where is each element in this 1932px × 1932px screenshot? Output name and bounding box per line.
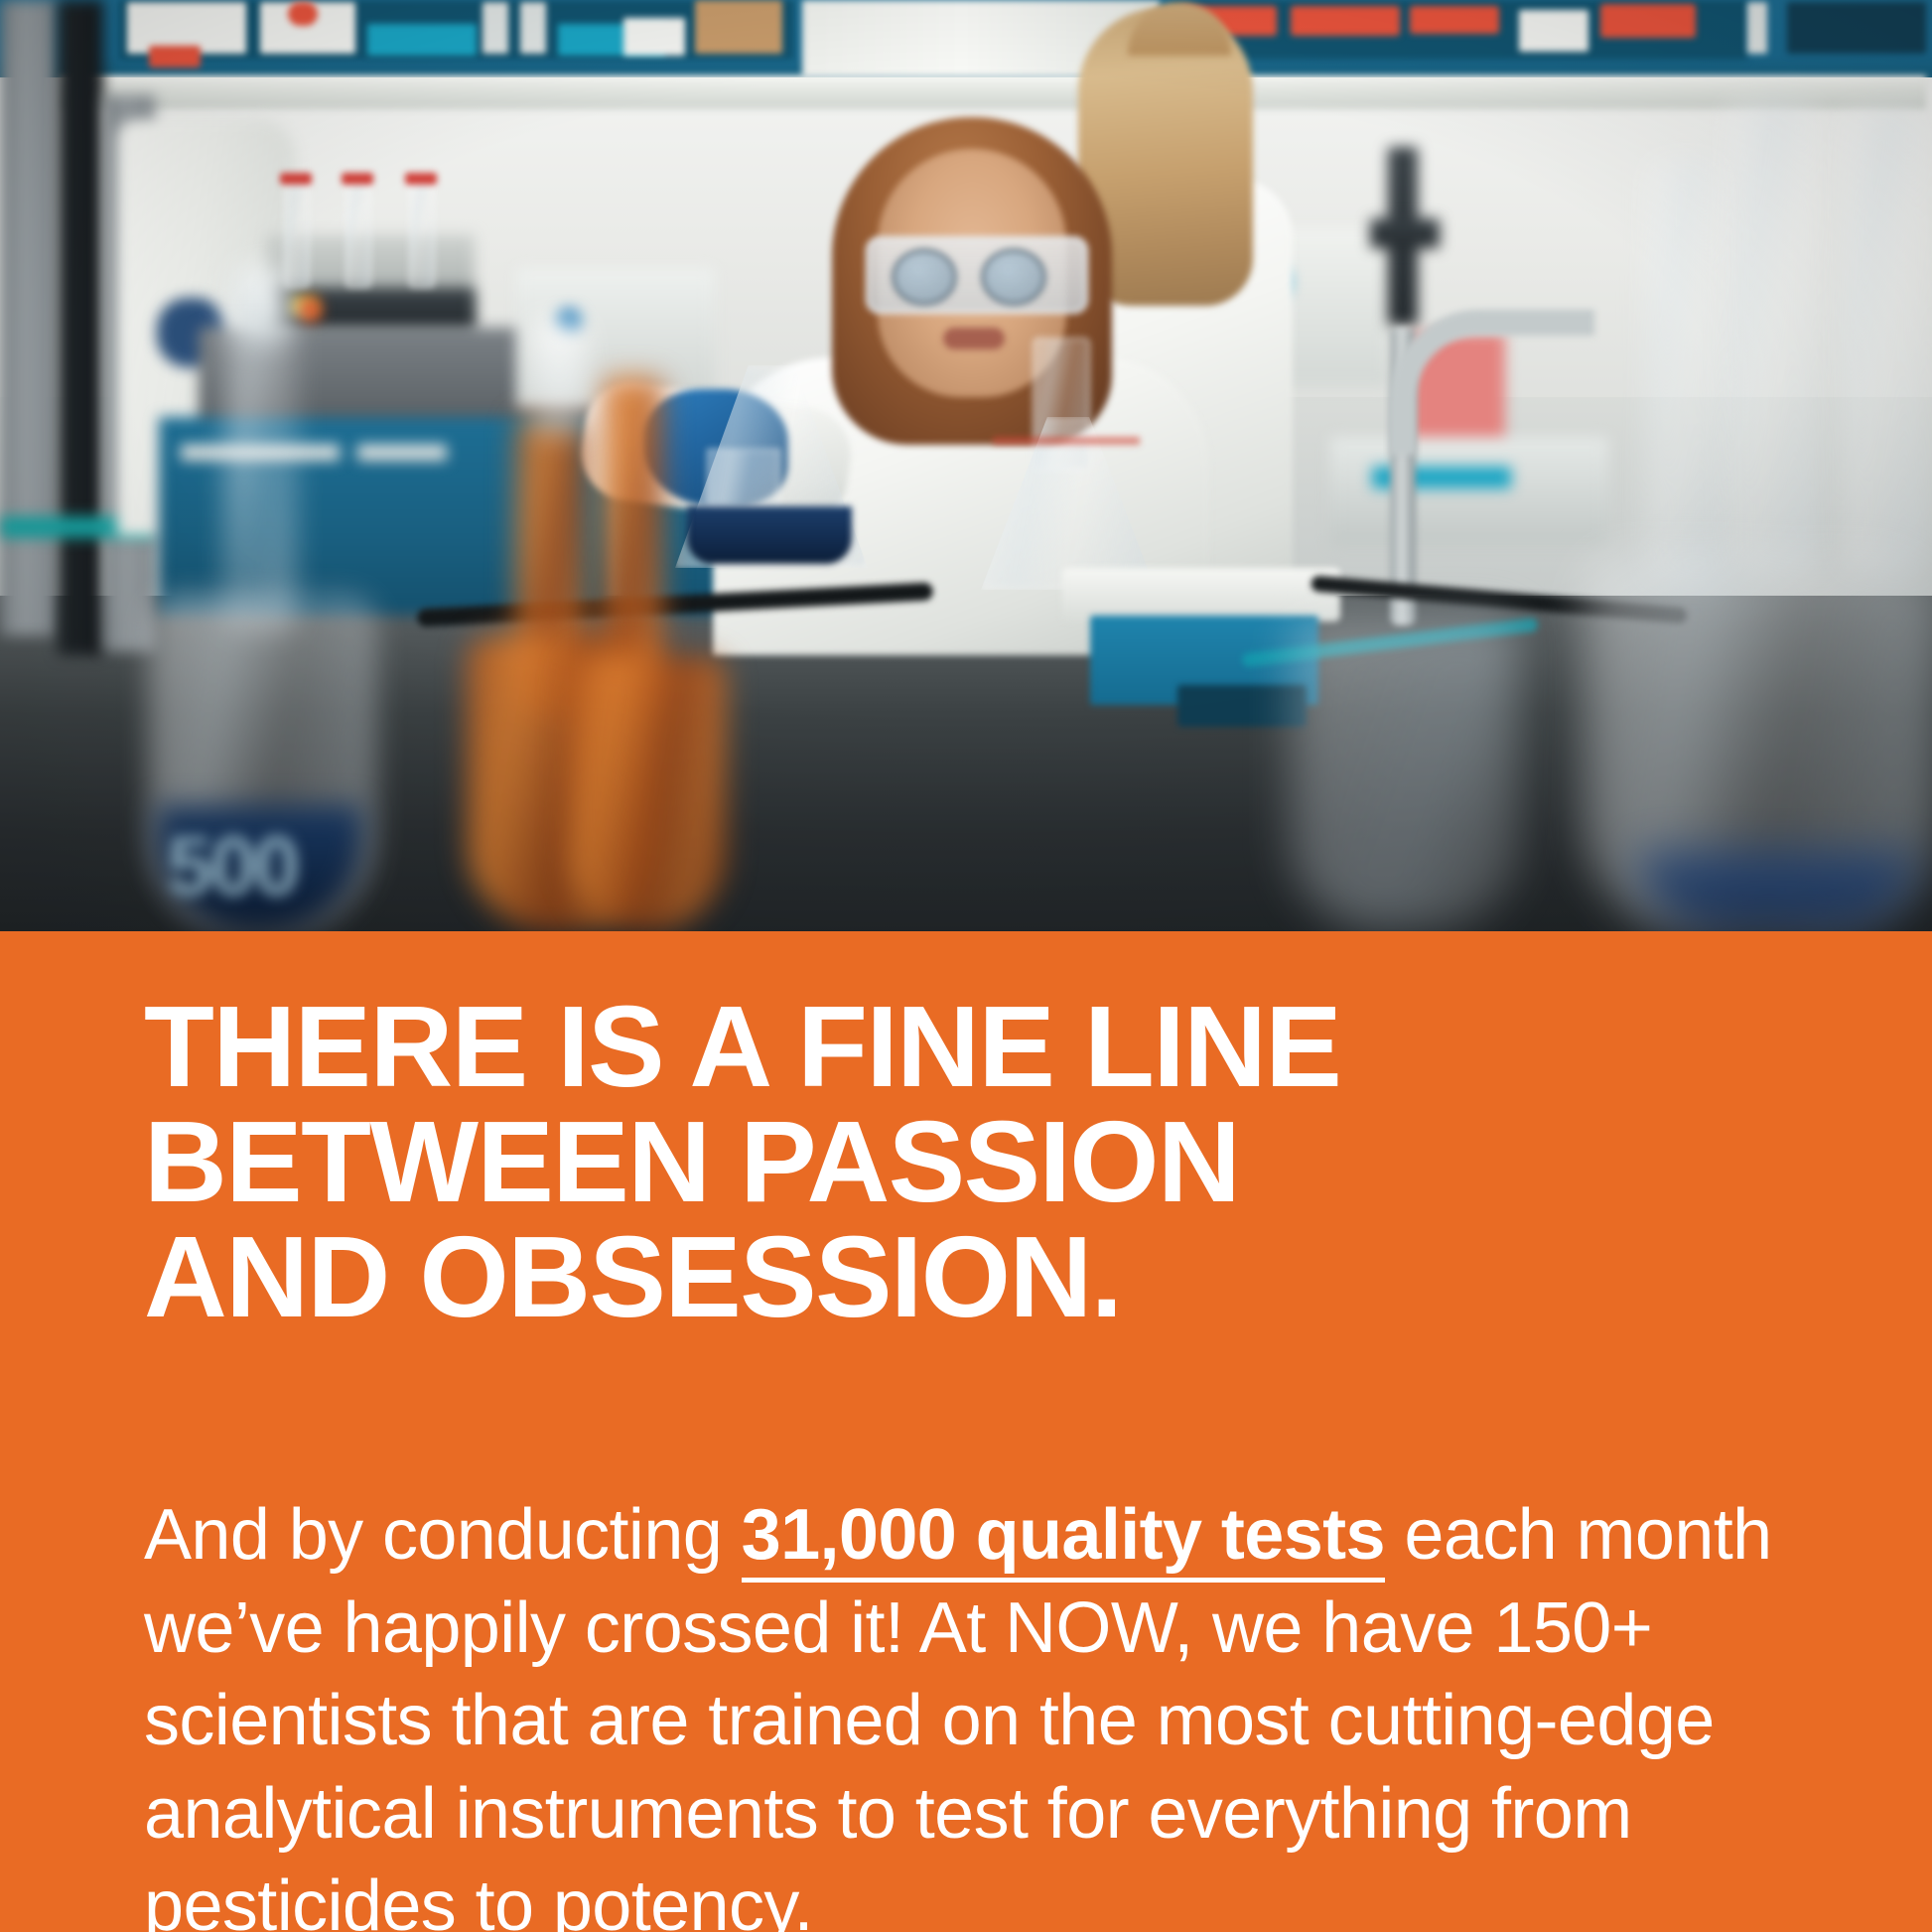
left-frame-column	[0, 0, 58, 635]
shelf-divider-2	[520, 2, 546, 54]
stand-clamp-right	[1370, 218, 1440, 248]
orange-text-panel: THERE IS A FINE LINE BETWEEN PASSION AND…	[0, 931, 1932, 1932]
flask-volume-marking: 500	[167, 830, 326, 901]
quality-tests-highlight: 31,000 quality tests	[742, 1495, 1385, 1583]
scientist-1-mouth	[943, 328, 1005, 349]
body-before-highlight: And by conducting	[144, 1495, 742, 1575]
rack-tube-3	[409, 175, 435, 288]
shelf-red-label-2	[288, 2, 318, 26]
rack-tube-cap-2	[342, 173, 373, 185]
cabinet-handle-2	[357, 445, 447, 461]
glass-column-right-2	[1843, 109, 1926, 570]
amber-flask-body-2	[568, 655, 727, 931]
balance-platform	[1062, 568, 1340, 621]
balance-shadow	[1177, 685, 1307, 727]
body-copy: And by conducting 31,000 quality tests e…	[144, 1489, 1792, 1932]
shelf-red-tray-2	[1291, 6, 1400, 36]
flask-right-graduation	[993, 437, 1140, 445]
glass-flask-midright-foreground	[1291, 616, 1519, 931]
social-graphic-card: 500 THERE IS A FINE LINE BETWEEN PASSION…	[0, 0, 1932, 1932]
shelf-box-4	[1519, 10, 1588, 52]
shelf-cardboard-box	[695, 0, 782, 54]
shelf-red-tray-4	[1600, 4, 1696, 38]
shelf-teal-1	[367, 24, 477, 56]
rack-tube-cap-1	[280, 173, 312, 185]
lab-photo: 500	[0, 0, 1932, 931]
amber-flask-stopper-1	[532, 318, 586, 437]
glass-column-right-1	[1727, 99, 1817, 570]
goggles-lens-right	[981, 248, 1046, 306]
shelf-under-lip	[60, 75, 1926, 109]
headline: THERE IS A FINE LINE BETWEEN PASSION AND…	[144, 989, 1772, 1334]
clear-flask-neck-left	[226, 298, 294, 629]
shelf-dark-right	[1787, 2, 1926, 54]
shelf-red-label-1	[149, 46, 201, 68]
tap-gooseneck	[1390, 310, 1594, 455]
rack-tube-cap-3	[405, 173, 437, 185]
shelf-red-tray-3	[1410, 6, 1499, 34]
glass-column-right-3	[1648, 159, 1722, 580]
rack-tube-2	[345, 175, 371, 288]
glass-flask-right-liquid	[1638, 852, 1916, 931]
shelf-divider-3	[1747, 2, 1767, 54]
shelf-box-3	[623, 18, 685, 56]
shelf-divider-1	[483, 2, 508, 54]
rack-tube-1	[284, 175, 310, 288]
left-frame-dark	[58, 0, 103, 655]
goggles-lens-left	[892, 248, 957, 306]
flask-center-liquid	[687, 506, 852, 564]
clear-flask-stopper-left	[234, 268, 286, 342]
instrument-light-orange	[298, 298, 322, 322]
